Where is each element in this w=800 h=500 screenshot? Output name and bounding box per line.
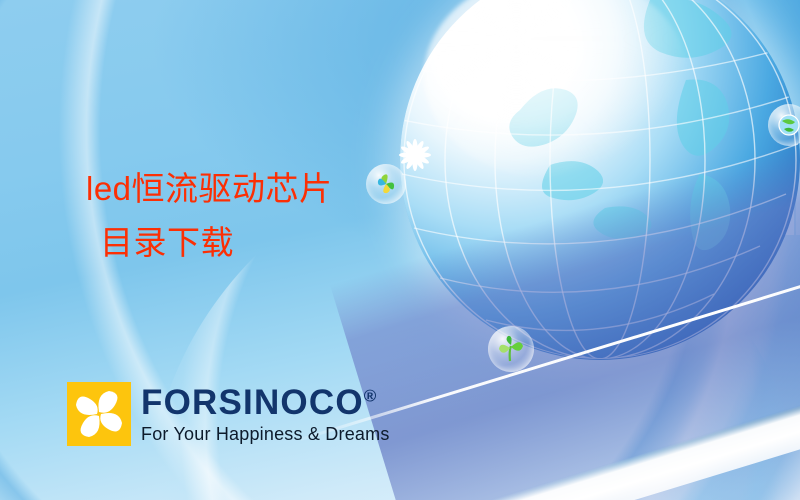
continents	[509, 0, 731, 250]
bubble-leaf-content	[497, 335, 525, 363]
bubble-globe-icon	[768, 104, 800, 146]
pinwheel-petals-svg	[67, 382, 131, 446]
headline-line-2: 目录下载	[86, 216, 426, 270]
registered-trademark-icon: ®	[364, 386, 377, 405]
globe-sphere	[400, 0, 800, 360]
logo-tagline: For Your Happiness & Dreams	[141, 425, 390, 443]
headline-line-1: led恒流驱动芯片	[86, 170, 333, 207]
logo-text-block: FORSINOCO® For Your Happiness & Dreams	[141, 385, 390, 443]
logo-wordmark: FORSINOCO®	[141, 385, 390, 420]
bubble-leaf-icon	[488, 326, 534, 372]
headline-text: led恒流驱动芯片 目录下载	[86, 162, 426, 271]
logo-wordmark-label: FORSINOCO	[141, 383, 364, 422]
promotional-banner: led恒流驱动芯片 目录下载 FORSINOCO® For Your Happi…	[0, 0, 800, 500]
bubble-globe-content	[776, 112, 800, 137]
city-skyline-silhouette	[670, 105, 800, 235]
forsinoco-pinwheel-mark	[67, 382, 131, 446]
globe-highlight	[424, 0, 688, 180]
violet-diagonal-ribbon	[330, 80, 800, 500]
globe-lat-long-grid	[400, 0, 800, 360]
white-diagonal-band	[360, 335, 800, 500]
earth-globe-graphic	[400, 0, 800, 360]
green-globe-svg	[776, 112, 800, 138]
globe-grid-svg	[400, 0, 800, 360]
green-leaf-svg	[497, 335, 525, 363]
shadow-diagonal-band	[430, 333, 800, 500]
city-skyline-svg	[670, 105, 800, 235]
globe-rim-glow	[390, 0, 800, 370]
forsinoco-logo[interactable]: FORSINOCO® For Your Happiness & Dreams	[67, 382, 390, 446]
